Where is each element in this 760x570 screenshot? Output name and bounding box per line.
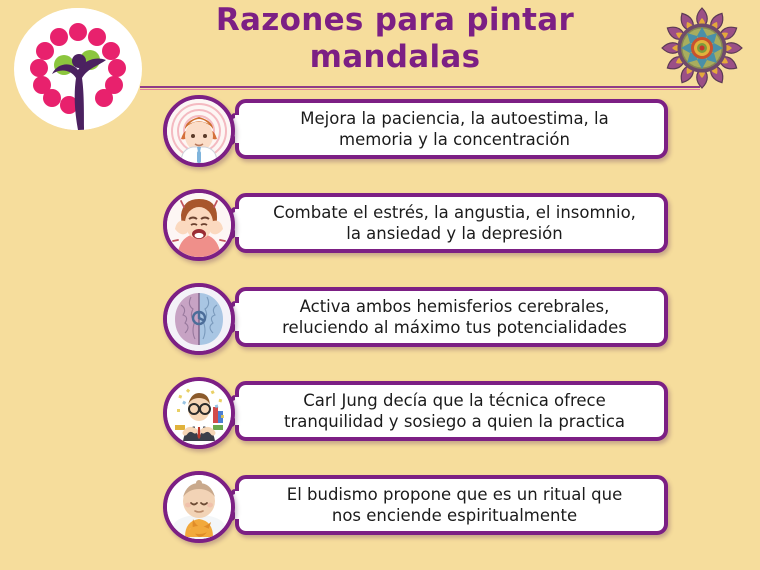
stressed-woman-icon — [163, 189, 235, 261]
notch-cover — [235, 491, 249, 519]
reason-text: El budismo propone que es un ritual que … — [269, 484, 634, 526]
list-item: Activa ambos hemisferios cerebrales, rel… — [163, 283, 668, 355]
list-item: El budismo propone que es un ritual que … — [163, 471, 668, 543]
notch-cover — [235, 115, 249, 143]
reason-bubble: El budismo propone que es un ritual que … — [235, 475, 668, 535]
reason-text: Activa ambos hemisferios cerebrales, rel… — [264, 296, 639, 338]
brain-hemispheres-icon — [163, 283, 235, 355]
reason-bubble: Combate el estrés, la angustia, el insom… — [235, 193, 668, 253]
reason-text: Combate el estrés, la angustia, el insom… — [255, 202, 648, 244]
reason-text: Mejora la paciencia, la autoestima, la m… — [282, 108, 621, 150]
child-orange-hair-icon — [163, 95, 235, 167]
reason-bubble: Activa ambos hemisferios cerebrales, rel… — [235, 287, 668, 347]
reason-bubble: Mejora la paciencia, la autoestima, la m… — [235, 99, 668, 159]
poster-header: Razones para pintar mandalas — [0, 0, 760, 90]
infographic-poster: Razones para pintar mandalas — [0, 0, 760, 570]
reasons-list: Mejora la paciencia, la autoestima, la m… — [0, 95, 760, 565]
page-title-line-2: mandalas — [170, 39, 620, 76]
buddhist-monk-icon — [163, 471, 235, 543]
reason-bubble: Carl Jung decía que la técnica ofrece tr… — [235, 381, 668, 441]
meditating-businessman-icon — [163, 377, 235, 449]
notch-cover — [235, 397, 249, 425]
list-item: Mejora la paciencia, la autoestima, la m… — [163, 95, 668, 167]
notch-cover — [235, 209, 249, 237]
header-divider — [140, 86, 700, 88]
page-title-line-1: Razones para pintar — [170, 2, 620, 39]
mandala-ornament-icon — [658, 4, 746, 92]
page-title: Razones para pintar mandalas — [170, 2, 620, 76]
list-item: Combate el estrés, la angustia, el insom… — [163, 189, 668, 261]
header-divider-accent — [140, 89, 700, 90]
list-item: Carl Jung decía que la técnica ofrece tr… — [163, 377, 668, 449]
notch-cover — [235, 303, 249, 331]
reason-text: Carl Jung decía que la técnica ofrece tr… — [266, 390, 637, 432]
